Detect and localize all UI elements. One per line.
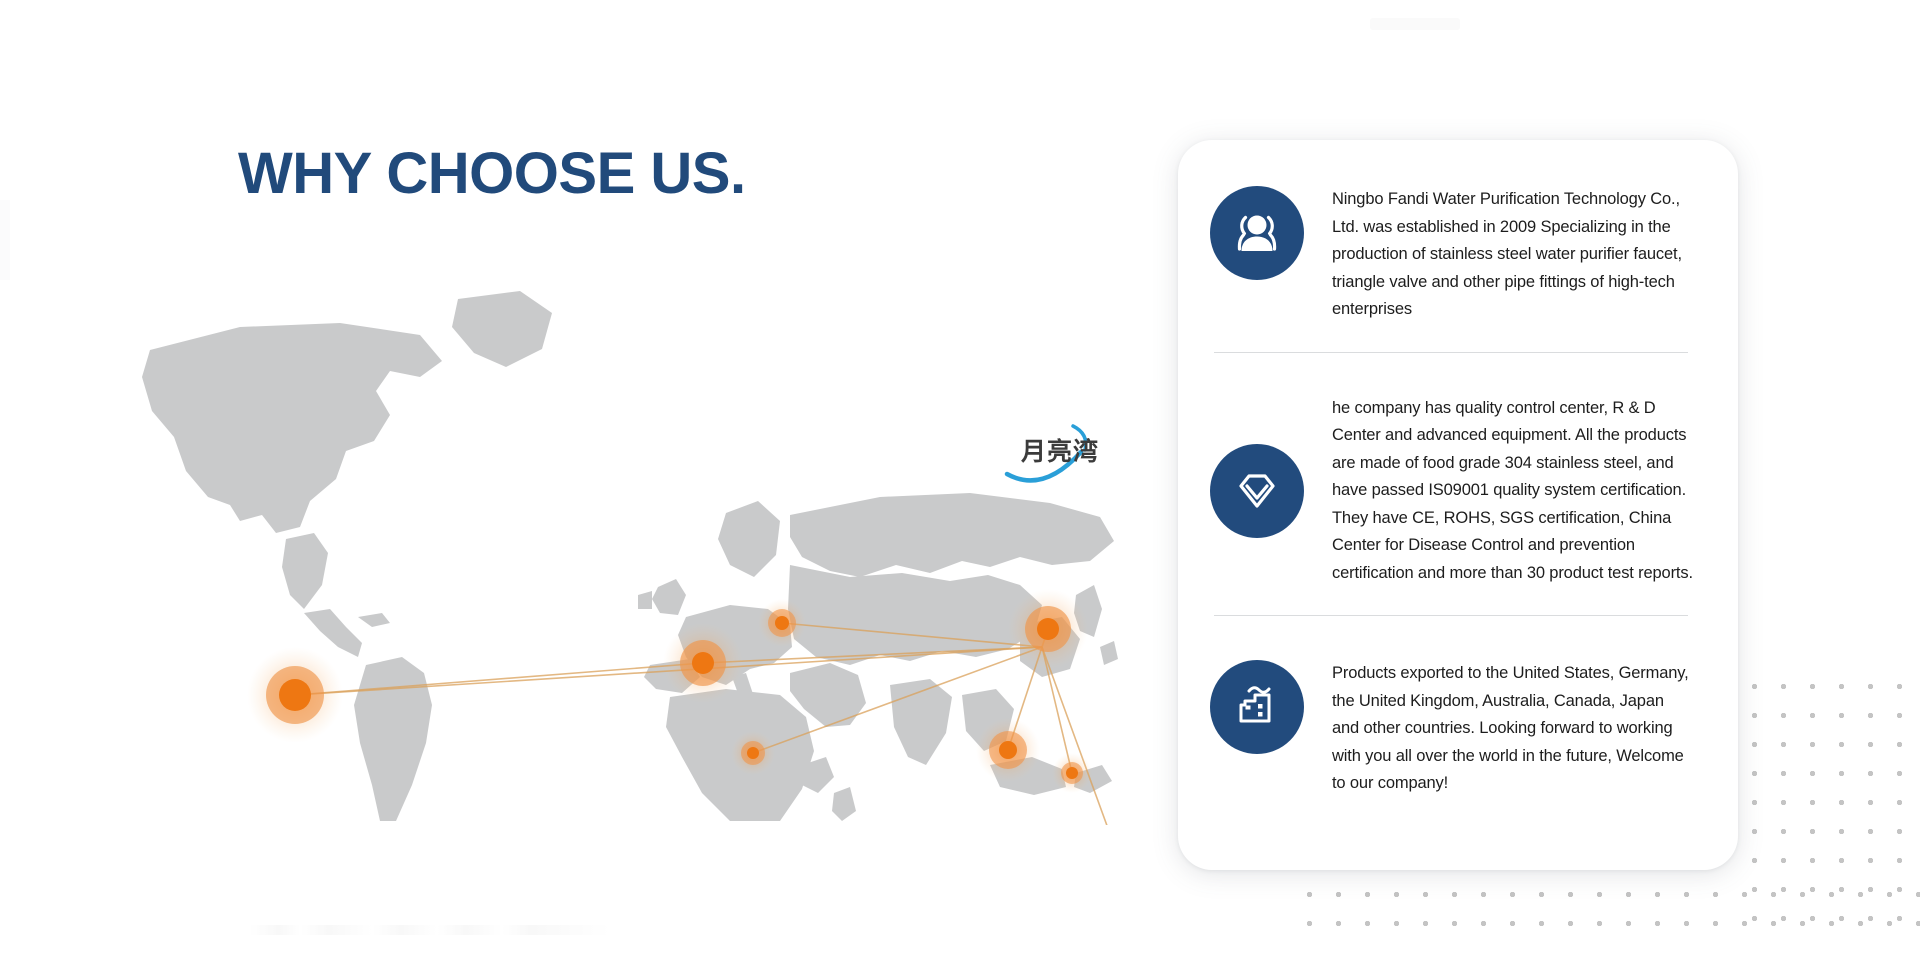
feature-text-export: Products exported to the United States, … [1332, 660, 1694, 798]
company-logo: 月亮湾 [985, 408, 1105, 488]
world-map [90, 265, 1170, 825]
dot-grid-bottom [1295, 880, 1920, 940]
factory-icon [1210, 660, 1304, 754]
why-choose-us-page: WHY CHOOSE US. [0, 0, 1920, 960]
feature-item-quality: he company has quality control center, R… [1210, 389, 1694, 594]
feature-text-quality: he company has quality control center, R… [1332, 395, 1694, 588]
feature-divider-1 [1214, 352, 1688, 353]
people-group-icon [1210, 186, 1304, 280]
feature-item-export: Products exported to the United States, … [1210, 654, 1694, 804]
page-title: WHY CHOOSE US. [238, 140, 746, 207]
feature-divider-2 [1214, 615, 1688, 616]
bottom-watermark-artifact [250, 925, 610, 935]
feature-text-company: Ningbo Fandi Water Purification Technolo… [1332, 186, 1694, 324]
features-card: Ningbo Fandi Water Purification Technolo… [1178, 140, 1738, 870]
feature-item-company: Ningbo Fandi Water Purification Technolo… [1210, 180, 1694, 330]
diamond-gem-icon [1210, 444, 1304, 538]
top-watermark-artifact [1370, 18, 1460, 30]
logo-text: 月亮湾 [1021, 432, 1099, 468]
left-edge-artifact [0, 200, 10, 280]
